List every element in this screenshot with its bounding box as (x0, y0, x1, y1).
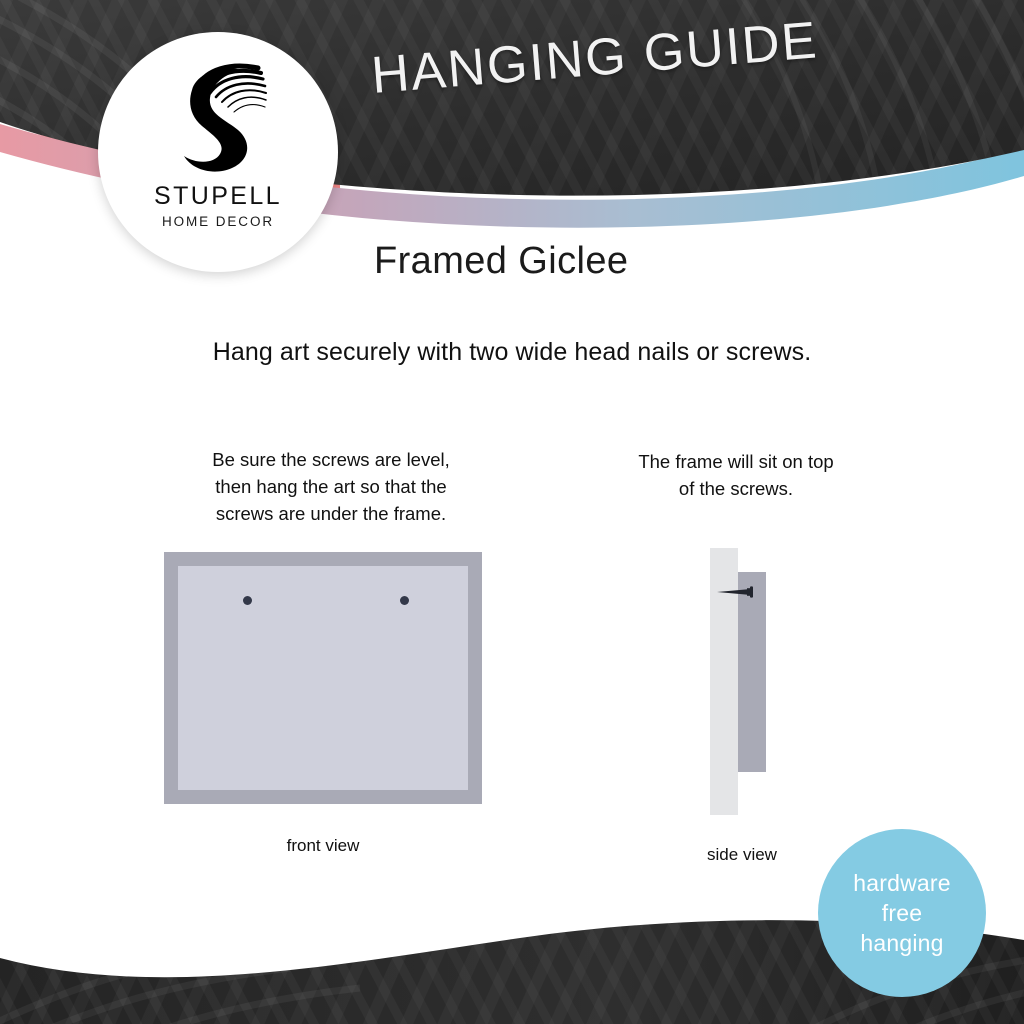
page-title: HANGING GUIDE (369, 10, 820, 106)
front-caption-line-1: Be sure the screws are level, (152, 446, 510, 473)
front-view-diagram (164, 552, 482, 804)
front-view-label: front view (164, 836, 482, 856)
side-view-label: side view (660, 845, 824, 865)
side-caption-line-2: of the screws. (592, 475, 880, 502)
front-view-caption: Be sure the screws are level, then hang … (152, 446, 510, 527)
side-view-caption: The frame will sit on top of the screws. (592, 448, 880, 502)
badge-line-2: free (882, 898, 922, 928)
brand-name: STUPELL (154, 182, 282, 211)
stupell-swirl-logo-icon (162, 56, 274, 176)
badge-line-3: hanging (860, 928, 943, 958)
side-view-diagram (710, 548, 774, 818)
brand-tagline: HOME DECOR (162, 214, 274, 229)
hardware-free-hanging-badge: hardware free hanging (818, 829, 986, 997)
brand-logo-badge: STUPELL HOME DECOR (98, 32, 338, 272)
side-view-frame (738, 572, 766, 772)
front-view-mat (178, 566, 468, 790)
hanging-guide-page: STUPELL HOME DECOR HANGING GUIDE Framed … (0, 0, 1024, 1024)
front-caption-line-3: screws are under the frame. (152, 500, 510, 527)
screw-dot-left-icon (243, 596, 252, 605)
badge-line-1: hardware (853, 868, 951, 898)
product-name: Framed Giclee (374, 240, 628, 283)
screw-dot-right-icon (400, 596, 409, 605)
nail-icon (716, 586, 758, 598)
front-caption-line-2: then hang the art so that the (152, 473, 510, 500)
main-instruction: Hang art securely with two wide head nai… (0, 338, 1024, 367)
side-caption-line-1: The frame will sit on top (592, 448, 880, 475)
